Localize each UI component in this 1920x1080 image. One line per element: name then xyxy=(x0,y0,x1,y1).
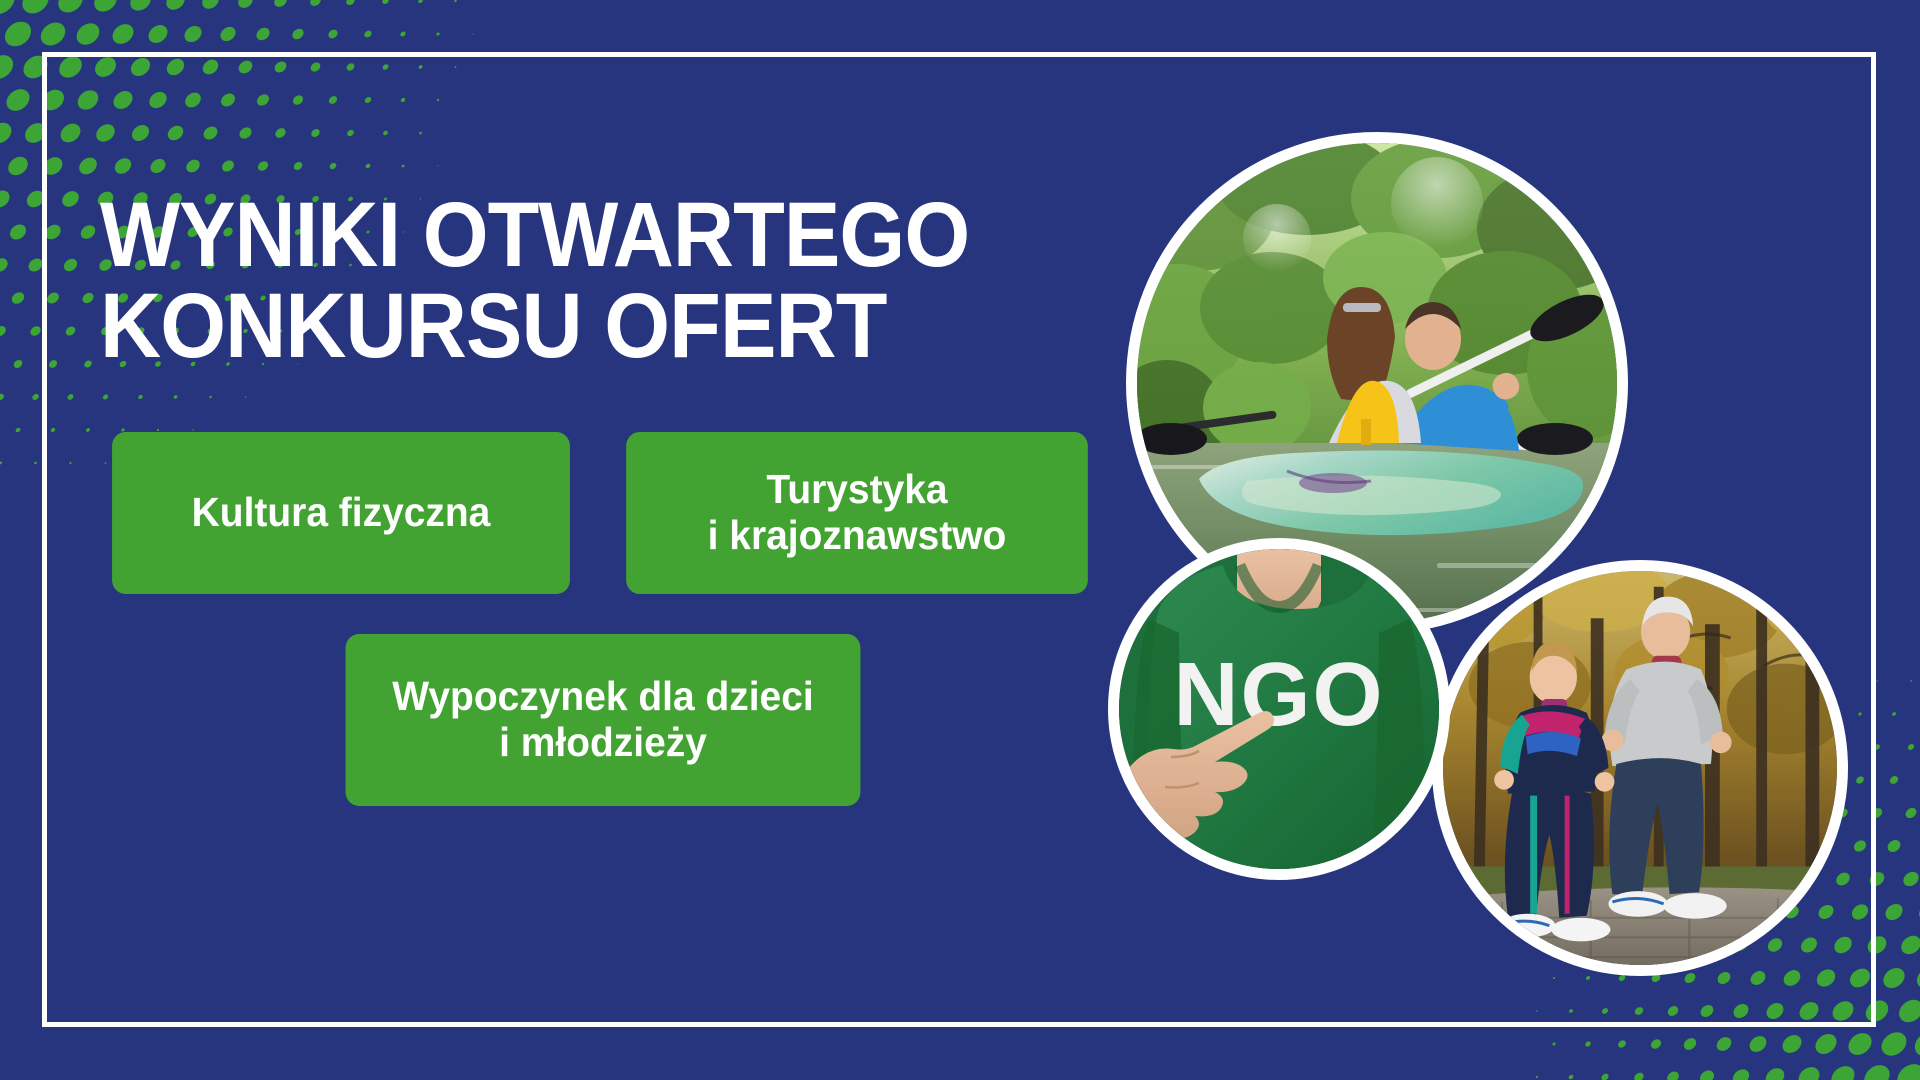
category-pill-row-secondary: Wypoczynek dla dzieci i młodzieży xyxy=(100,634,1100,806)
category-pill-kultura-fizyczna[interactable]: Kultura fizyczna xyxy=(112,432,570,594)
jogging-photo-image xyxy=(1443,571,1837,965)
category-pill-turystyka-i-krajoznawstwo[interactable]: Turystyka i krajoznawstwo xyxy=(626,432,1088,594)
banner-root: WYNIKI OTWARTEGO KONKURSU OFERT Kultura … xyxy=(0,0,1920,1080)
page-title: WYNIKI OTWARTEGO KONKURSU OFERT xyxy=(100,190,1020,372)
ngo-tshirt-photo: NGO xyxy=(1108,538,1450,880)
ngo-tshirt-photo-image: NGO xyxy=(1119,549,1439,869)
jogging-photo xyxy=(1432,560,1848,976)
ngo-shirt-text: NGO xyxy=(1173,645,1384,745)
content-left-column: WYNIKI OTWARTEGO KONKURSU OFERT Kultura … xyxy=(100,190,1100,806)
category-pill-wypoczynek-dla-dzieci-i-mlodziezy[interactable]: Wypoczynek dla dzieci i młodzieży xyxy=(346,634,861,806)
category-pill-row-primary: Kultura fizyczna Turystyka i krajoznawst… xyxy=(100,432,1100,594)
